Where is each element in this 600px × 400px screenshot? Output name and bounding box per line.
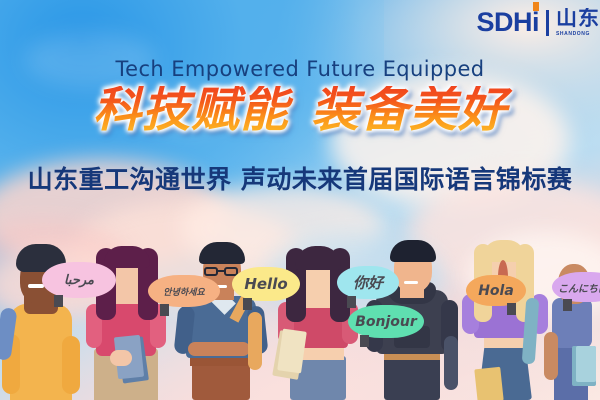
speech-bubble-arabic: مرحبا (42, 262, 116, 298)
promo-banner: SDH i 山东 SHANDONG Tech Empowered Future … (0, 0, 600, 400)
english-tagline: Tech Empowered Future Equipped (0, 57, 600, 81)
headline-part-2: 装备美好 (311, 82, 507, 138)
logo-wordmark: SDH i (476, 9, 539, 36)
speech-bubble-text: Hello (244, 275, 287, 293)
speech-bubble-french: Bonjour (348, 305, 424, 338)
speech-bubble-spanish: Hola (466, 275, 526, 306)
sdhi-logo[interactable]: SDH i 山东 SHANDONG (476, 8, 600, 37)
speech-bubble-korean: 안녕하세요 (148, 275, 220, 307)
speech-bubble-english: Hello (232, 267, 300, 301)
speech-bubble-text: 你好 (353, 272, 383, 293)
logo-i-letter: i (532, 9, 539, 36)
person-woman-blonde (456, 238, 552, 400)
logo-chinese-name: 山东 (556, 8, 600, 29)
speech-bubble-chinese: 你好 (337, 266, 399, 299)
headline-part-1: 科技赋能 (93, 82, 289, 138)
main-headline: 科技赋能装备美好 (0, 86, 600, 136)
speech-bubble-text: 안녕하세요 (163, 285, 204, 298)
speech-bubble-text: Hola (478, 283, 514, 299)
logo-english-name: SHANDONG (556, 32, 600, 37)
people-illustration (0, 235, 600, 400)
logo-orange-dot (533, 2, 539, 11)
logo-sdh-text: SDH (476, 9, 532, 36)
speech-bubble-text: مرحبا (64, 273, 94, 288)
person-man-glasses-blue (170, 240, 274, 400)
logo-divider (546, 10, 549, 36)
speech-bubble-text: こんにちは (558, 280, 600, 295)
logo-i-text: i (532, 7, 539, 37)
speech-bubble-text: Bonjour (355, 314, 417, 330)
logo-chinese-block: 山东 SHANDONG (556, 8, 600, 37)
event-subtitle: 山东重工沟通世界 声动未来首届国际语言锦标赛 (0, 160, 600, 196)
